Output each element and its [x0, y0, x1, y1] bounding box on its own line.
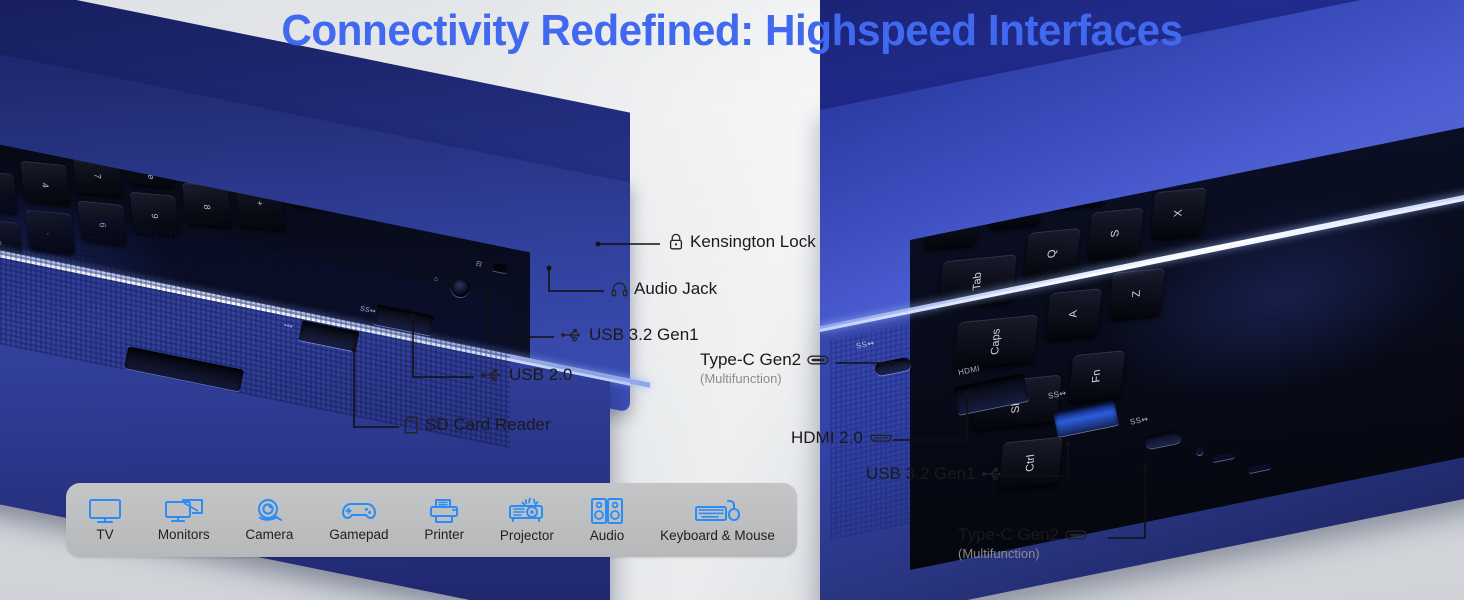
device-item-keyboard-mouse: Keyboard & Mouse — [656, 497, 779, 543]
device-item-projector: Projector — [496, 497, 558, 543]
usb-icon — [561, 328, 583, 342]
device-label: TV — [96, 527, 113, 542]
device-label: Projector — [500, 528, 554, 543]
usb-icon — [982, 467, 1004, 481]
product-banner: Ins 0 PgDn 3 . 6 End 1 5 2 4 7 9 Home 8 … — [0, 0, 1464, 600]
page-title: Connectivity Redefined: Highspeed Interf… — [29, 6, 1434, 56]
callout-kensington-lock: Kensington Lock — [668, 232, 816, 252]
callout-type-c-gen2-top: Type-C Gen2 (Multifunction) — [700, 350, 829, 386]
callout-label: HDMI 2.0 — [791, 428, 863, 448]
keyboard-mouse-icon — [694, 497, 742, 525]
callout-usb-32-gen1-left: USB 3.2 Gen1 — [561, 325, 699, 345]
device-item-camera: Camera — [241, 498, 297, 542]
supported-devices-strip: TV Monitors Camera Gamepad Printer — [66, 483, 797, 557]
device-label: Keyboard & Mouse — [660, 528, 775, 543]
hdmi-icon — [869, 432, 893, 444]
callout-label: Type-C Gen2 — [958, 525, 1059, 545]
camera-icon — [253, 498, 285, 524]
callout-type-c-gen2-bottom: Type-C Gen2 (Multifunction) — [958, 525, 1087, 561]
projector-icon — [507, 497, 547, 525]
laptop-left-side-view: Ins 0 PgDn 3 . 6 End 1 5 2 4 7 9 Home 8 … — [0, 28, 670, 478]
callout-sublabel: (Multifunction) — [700, 371, 801, 386]
callout-label: Type-C Gen2 — [700, 350, 801, 370]
device-item-gamepad: Gamepad — [325, 498, 392, 542]
device-label: Monitors — [158, 527, 210, 542]
callout-sublabel: (Multifunction) — [958, 546, 1059, 561]
callout-label: USB 3.2 Gen1 — [589, 325, 699, 345]
gamepad-icon — [340, 498, 378, 524]
usb-icon — [481, 368, 503, 382]
callout-usb-20: USB 2.0 — [481, 365, 572, 385]
device-item-tv: TV — [84, 498, 126, 542]
silkscreen-usb2: •↭ — [283, 321, 293, 331]
device-label: Gamepad — [329, 527, 388, 542]
callout-label: Kensington Lock — [690, 232, 816, 252]
lock-icon — [668, 233, 684, 251]
speaker-icon — [590, 497, 624, 525]
device-item-printer: Printer — [420, 498, 468, 542]
device-item-audio: Audio — [586, 497, 629, 543]
callout-audio-jack: Audio Jack — [611, 279, 717, 299]
callout-usb-32-gen1-right: USB 3.2 Gen1 — [866, 464, 1004, 484]
type-c-icon — [807, 354, 829, 366]
device-label: Camera — [245, 527, 293, 542]
callout-label: Audio Jack — [634, 279, 717, 299]
headphone-icon — [611, 281, 628, 297]
callout-sd-card-reader: SD Card Reader — [404, 415, 551, 435]
device-item-monitors: Monitors — [154, 498, 214, 542]
device-label: Audio — [590, 528, 625, 543]
callout-label: SD Card Reader — [425, 415, 551, 435]
sd-card-icon — [404, 416, 419, 434]
type-c-icon — [1065, 529, 1087, 541]
device-label: Printer — [424, 527, 464, 542]
monitor-icon — [164, 498, 204, 524]
tv-icon — [88, 498, 122, 524]
callout-hdmi-20: HDMI 2.0 — [791, 428, 893, 448]
printer-icon — [428, 498, 460, 524]
laptop-right-side-view: - 1 2 W D Tab Q S X Caps A Z Shift Fn Ct… — [800, 190, 1464, 600]
callout-label: USB 3.2 Gen1 — [866, 464, 976, 484]
callout-label: USB 2.0 — [509, 365, 572, 385]
